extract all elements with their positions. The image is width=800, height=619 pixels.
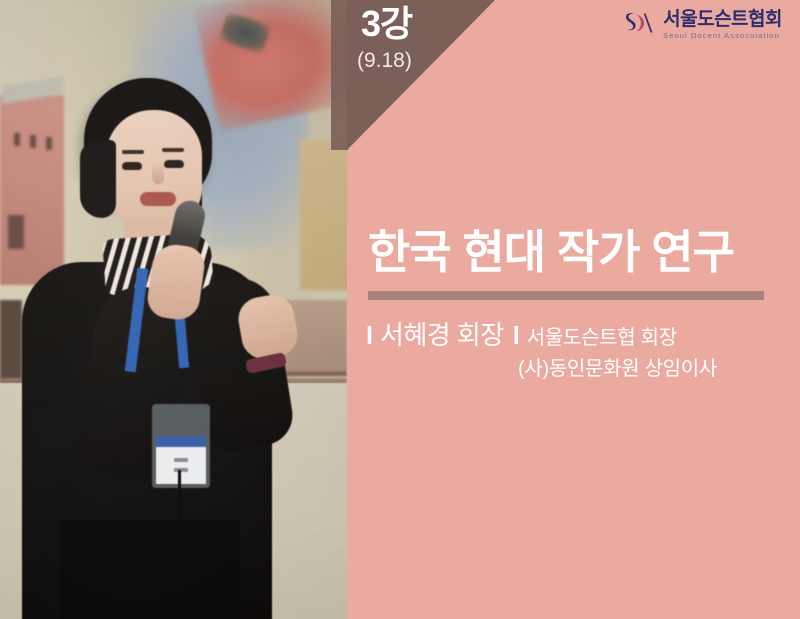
divider-bar-icon: l — [513, 324, 520, 349]
presenter-role-line-1: 서울도슨트협 회장 — [527, 326, 677, 350]
lesson-date: (9.18) — [357, 50, 477, 71]
name-badge-header — [156, 436, 206, 447]
logo-korean-name: 서울도슨트협회 — [663, 10, 782, 29]
lesson-badge-strip — [331, 0, 348, 150]
association-logo: 서울도슨트협회 Seoul Docent Assocoiation — [622, 8, 782, 42]
nose — [152, 162, 164, 184]
title-underline-rule — [368, 291, 764, 300]
mouth — [140, 192, 176, 206]
eye-right — [164, 160, 184, 168]
eyebrow-right — [162, 148, 184, 152]
microphone-cable — [178, 470, 181, 619]
logo-text-block: 서울도슨트협회 Seoul Docent Assocoiation — [663, 10, 782, 40]
name-badge-card — [156, 436, 206, 484]
name-badge — [152, 404, 210, 488]
lesson-number: 3강 — [361, 6, 481, 42]
logo-english-name: Seoul Docent Assocoiation — [663, 32, 782, 40]
presenter-primary-row: l 서혜경 회장 l 서울도슨트협 회장 — [366, 320, 786, 351]
speaker-figure — [0, 0, 347, 619]
divider-bar-icon: l — [366, 324, 373, 349]
eye-left — [122, 162, 142, 170]
name-badge-text-line — [174, 458, 188, 462]
speaker-photo — [0, 0, 347, 619]
speaker-skirt — [60, 520, 240, 619]
eyebrow-left — [122, 150, 144, 154]
content-panel — [347, 0, 800, 619]
presenter-role-line-2: (사)동인문화원 상임이사 — [518, 357, 786, 381]
presenter-name: 서혜경 회장 — [380, 320, 504, 351]
sda-monogram-icon — [622, 8, 656, 42]
speaker-hair-side — [80, 140, 116, 218]
presenter-block: l 서혜경 회장 l 서울도슨트협 회장 (사)동인문화원 상임이사 — [366, 320, 786, 381]
lecture-title-card: 3강 (9.18) 서울도슨트협회 Seoul Docent Assocoiat… — [0, 0, 800, 619]
name-badge-text-line — [174, 468, 188, 472]
page-title: 한국 현대 작가 연구 — [368, 224, 788, 280]
